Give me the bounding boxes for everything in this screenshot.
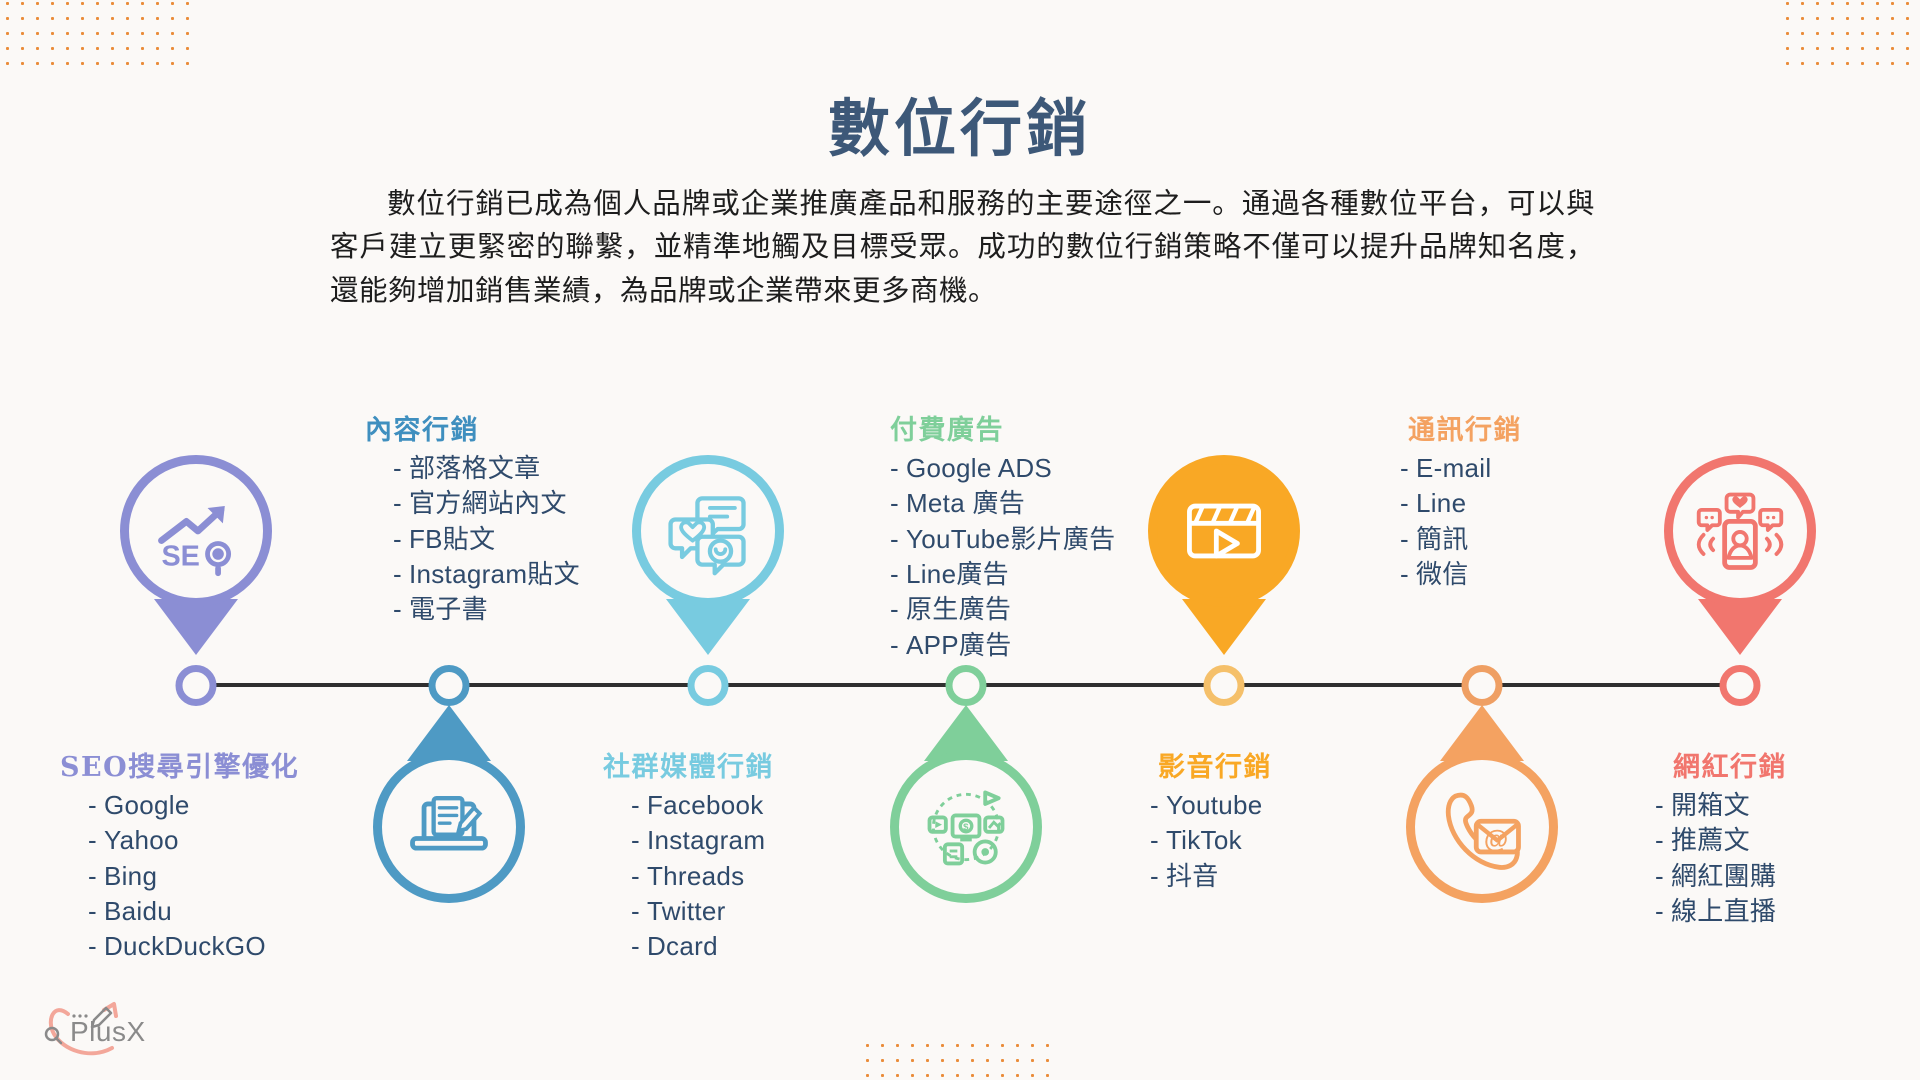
- section-kol-list: -開箱文 -推薦文 -網紅團購 -線上直播: [1655, 788, 1787, 929]
- pin-content-circle: [373, 751, 525, 903]
- logo-text: PlusX: [70, 1016, 146, 1048]
- section-seo: SEO搜尋引擎優化 -Google -Yahoo -Bing -Baidu -D…: [60, 745, 299, 965]
- intro-paragraph: 數位行銷已成為個人品牌或企業推廣產品和服務的主要途徑之一。通過各種數位平台，可以…: [330, 182, 1595, 312]
- list-item: -微信: [1400, 557, 1522, 592]
- section-comm: 通訊行銷 -E-mail -Line -簡訊 -微信: [1400, 408, 1522, 592]
- pin-paid-circle: $: [890, 751, 1042, 903]
- timeline-node-kol: [1720, 665, 1761, 706]
- pin-comm-circle: @: [1406, 751, 1558, 903]
- phone-email-icon: @: [1434, 779, 1530, 875]
- list-item: -Dcard: [631, 929, 774, 964]
- section-video: 影音行銷 -Youtube -TikTok -抖音: [1150, 745, 1272, 894]
- list-item: -原生廣告: [890, 592, 1115, 627]
- list-item: -YouTube影片廣告: [890, 522, 1115, 557]
- pin-social-tail: [666, 599, 750, 655]
- list-item: -Meta 廣告: [890, 486, 1115, 521]
- seo-growth-icon: SE: [148, 483, 244, 579]
- section-social: 社群媒體行銷 -Facebook -Instagram -Threads -Tw…: [603, 745, 774, 965]
- list-item: -TikTok: [1150, 823, 1272, 858]
- pin-paid[interactable]: $: [890, 705, 1042, 903]
- dot-pattern-top-left: [0, 0, 190, 66]
- section-kol-title: 網紅行銷: [1655, 745, 1787, 784]
- list-item: -Google: [88, 788, 299, 823]
- pin-kol[interactable]: [1664, 455, 1816, 655]
- list-item: -Google ADS: [890, 451, 1115, 486]
- pin-seo-circle: SE: [120, 455, 272, 607]
- section-paid-title: 付費廣告: [890, 408, 1115, 447]
- list-item: -Facebook: [631, 788, 774, 823]
- influencer-phone-icon: [1692, 483, 1788, 579]
- section-content-title: 內容行銷: [365, 408, 580, 447]
- pin-seo[interactable]: SE: [120, 455, 272, 655]
- list-item: -網紅團購: [1655, 859, 1787, 894]
- pin-video[interactable]: [1148, 455, 1300, 655]
- section-paid-list: -Google ADS -Meta 廣告 -YouTube影片廣告 -Line廣…: [890, 451, 1115, 663]
- timeline-node-content: [429, 665, 470, 706]
- list-item: -Threads: [631, 859, 774, 894]
- timeline-node-comm: [1462, 665, 1503, 706]
- pin-social-circle: [632, 455, 784, 607]
- list-item: -開箱文: [1655, 788, 1787, 823]
- section-social-list: -Facebook -Instagram -Threads -Twitter -…: [603, 788, 774, 965]
- list-item: -線上直播: [1655, 894, 1787, 929]
- page-title: 數位行銷: [0, 78, 1920, 168]
- dot-pattern-top-right: [1780, 0, 1920, 66]
- svg-text:$: $: [963, 822, 969, 833]
- pin-kol-circle: [1664, 455, 1816, 607]
- section-content: 內容行銷 -部落格文章 -官方網站內文 -FB貼文 -Instagram貼文 -…: [365, 408, 580, 628]
- timeline-node-social: [688, 665, 729, 706]
- list-item: -官方網站內文: [393, 486, 580, 521]
- section-seo-list: -Google -Yahoo -Bing -Baidu -DuckDuckGO: [60, 788, 299, 965]
- list-item: -Bing: [88, 859, 299, 894]
- document-editing-icon: [401, 779, 497, 875]
- infographic-page: 數位行銷 數位行銷已成為個人品牌或企業推廣產品和服務的主要途徑之一。通過各種數位…: [0, 0, 1920, 1080]
- chat-bubbles-icon: [660, 483, 756, 579]
- dot-pattern-bottom-center: [860, 1038, 1050, 1080]
- pin-kol-tail: [1698, 599, 1782, 655]
- video-player-icon: [1176, 483, 1272, 579]
- section-kol: 網紅行銷 -開箱文 -推薦文 -網紅團購 -線上直播: [1655, 745, 1787, 929]
- pin-content[interactable]: [373, 705, 525, 903]
- list-item: -E-mail: [1400, 451, 1522, 486]
- section-seo-title: SEO搜尋引擎優化: [60, 745, 299, 784]
- list-item: -Line廣告: [890, 557, 1115, 592]
- list-item: -部落格文章: [393, 451, 580, 486]
- list-item: -Twitter: [631, 894, 774, 929]
- section-paid: 付費廣告 -Google ADS -Meta 廣告 -YouTube影片廣告 -…: [890, 408, 1115, 663]
- list-item: -FB貼文: [393, 522, 580, 557]
- timeline-node-seo: [176, 665, 217, 706]
- pin-video-tail: [1182, 599, 1266, 655]
- pin-seo-tail: [154, 599, 238, 655]
- list-item: -Line: [1400, 486, 1522, 521]
- svg-text:@: @: [1484, 826, 1508, 854]
- section-content-list: -部落格文章 -官方網站內文 -FB貼文 -Instagram貼文 -電子書: [365, 451, 580, 628]
- section-video-list: -Youtube -TikTok -抖音: [1150, 788, 1272, 894]
- pin-social[interactable]: [632, 455, 784, 655]
- section-video-title: 影音行銷: [1150, 745, 1272, 784]
- section-comm-list: -E-mail -Line -簡訊 -微信: [1400, 451, 1522, 592]
- list-item: -推薦文: [1655, 823, 1787, 858]
- list-item: -簡訊: [1400, 522, 1522, 557]
- timeline-node-paid: [946, 665, 987, 706]
- plusx-logo[interactable]: PlusX: [22, 996, 172, 1066]
- timeline-node-video: [1204, 665, 1245, 706]
- section-comm-title: 通訊行銷: [1400, 408, 1522, 447]
- list-item: -DuckDuckGO: [88, 929, 299, 964]
- section-social-title: 社群媒體行銷: [603, 745, 774, 784]
- list-item: -電子書: [393, 592, 580, 627]
- svg-text:SE: SE: [161, 541, 199, 573]
- ads-megaphone-icon: $: [918, 779, 1014, 875]
- pin-video-circle: [1148, 455, 1300, 607]
- pin-comm[interactable]: @: [1406, 705, 1558, 903]
- list-item: -Youtube: [1150, 788, 1272, 823]
- list-item: -APP廣告: [890, 628, 1115, 663]
- list-item: -抖音: [1150, 859, 1272, 894]
- list-item: -Instagram貼文: [393, 557, 580, 592]
- list-item: -Baidu: [88, 894, 299, 929]
- list-item: -Instagram: [631, 823, 774, 858]
- list-item: -Yahoo: [88, 823, 299, 858]
